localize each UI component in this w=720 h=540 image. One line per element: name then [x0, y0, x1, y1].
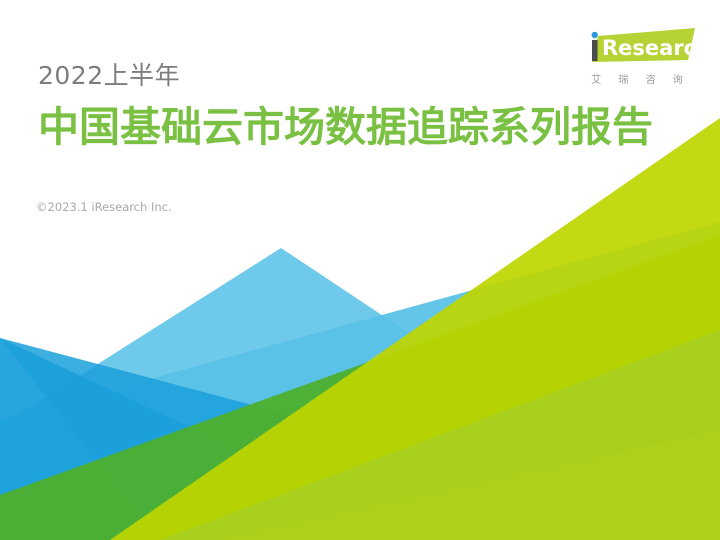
iresearch-logo: Research 艾 瑞 咨 询	[578, 28, 696, 90]
cover-kicker: 2022上半年	[38, 56, 180, 92]
page-title: 中国基础云市场数据追踪系列报告	[38, 104, 653, 151]
logo-i-dot-icon	[592, 32, 598, 38]
logo-mark: Research	[578, 28, 696, 68]
copyright-notice: ©2023.1 iResearch Inc.	[36, 200, 172, 214]
logo-wordmark: Research	[602, 36, 696, 60]
logo-i-stem	[592, 40, 598, 61]
logo-chinese-name: 艾 瑞 咨 询	[578, 71, 696, 86]
report-cover-page: Research 艾 瑞 咨 询 2022上半年 中国基础云市场数据追踪系列报告…	[0, 0, 720, 540]
